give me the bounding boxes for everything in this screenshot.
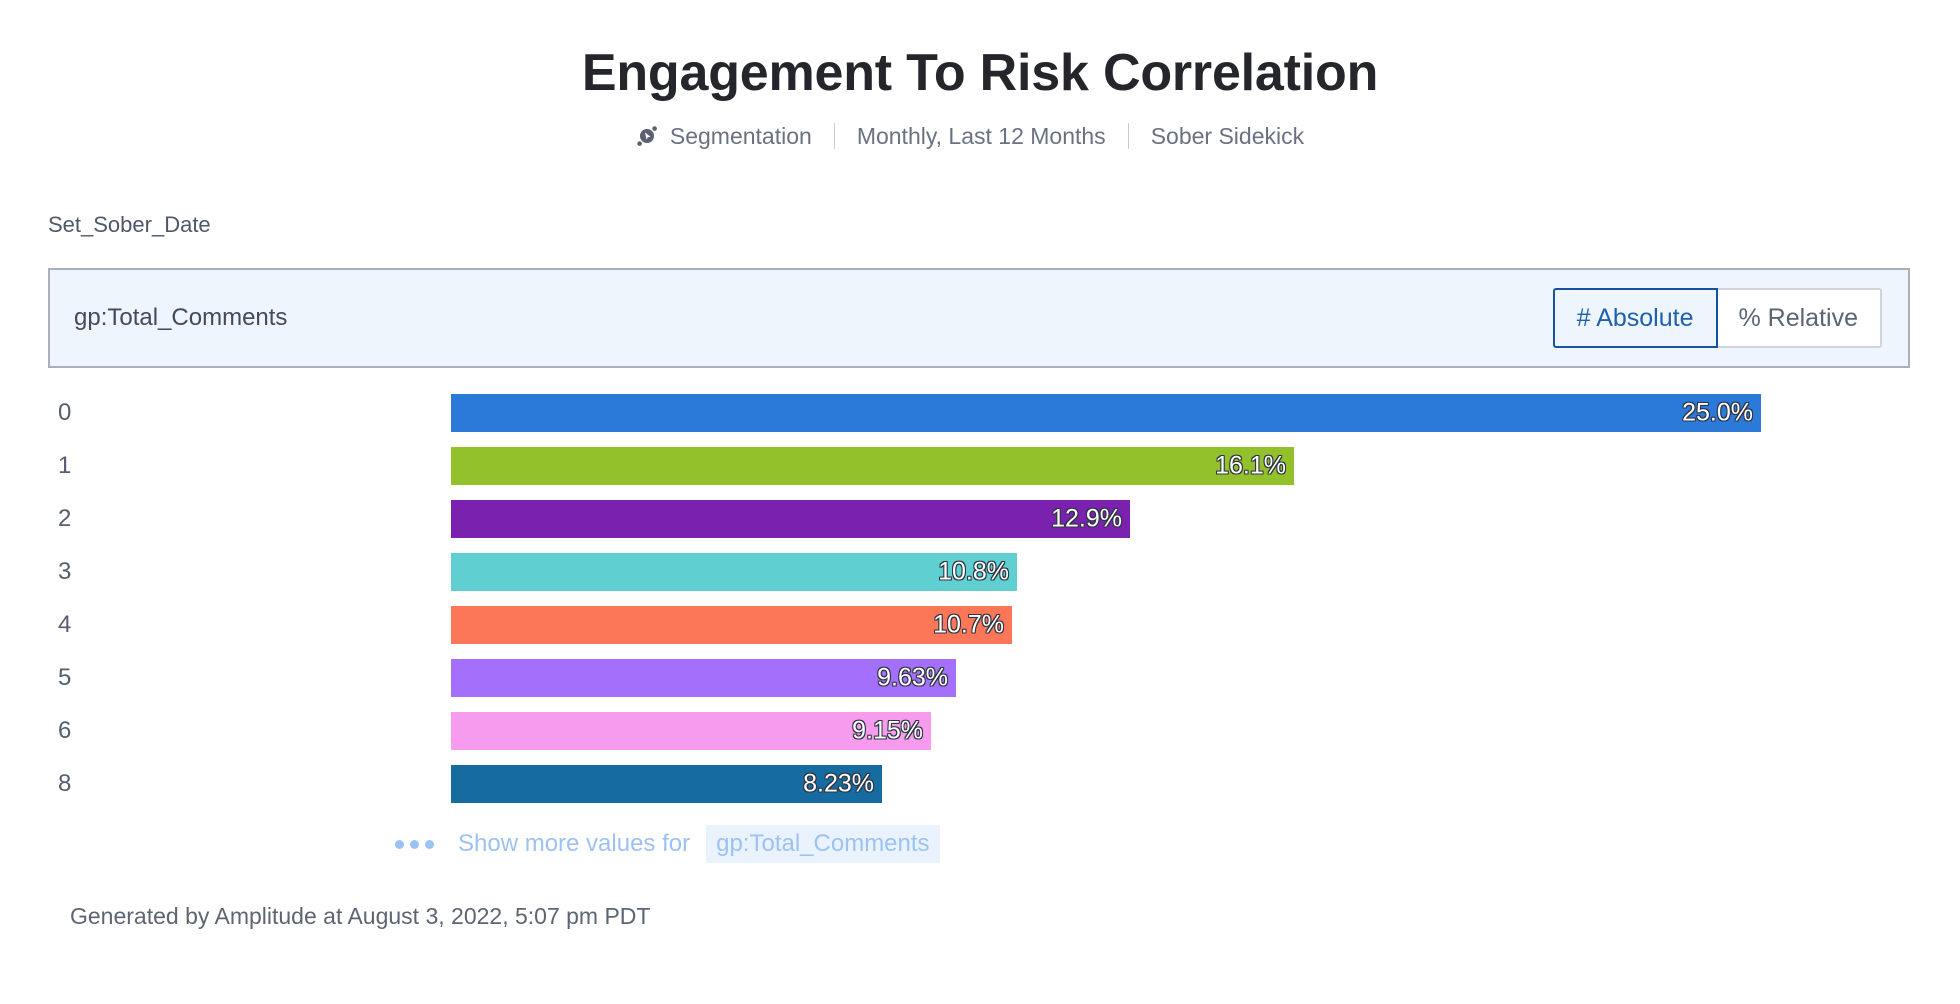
bar-fill[interactable]: 9.15% — [451, 712, 931, 750]
bar-row: 025.0% — [0, 392, 1960, 445]
absolute-toggle-button[interactable]: # Absolute — [1553, 288, 1718, 348]
value-mode-toggle-group: # Absolute % Relative — [1553, 288, 1882, 348]
bar-fill[interactable]: 10.8% — [451, 553, 1017, 591]
generated-by-note: Generated by Amplitude at August 3, 2022… — [70, 903, 650, 930]
bar-row: 310.8% — [0, 551, 1960, 604]
relative-toggle-button[interactable]: % Relative — [1717, 288, 1883, 348]
bar-fill[interactable]: 12.9% — [451, 500, 1130, 538]
bar-category-label: 6 — [58, 710, 71, 752]
bar-value-label: 10.7% — [933, 611, 1004, 640]
measure-panel: gp:Total_Comments # Absolute % Relative — [48, 268, 1910, 368]
bar-fill[interactable]: 9.63% — [451, 659, 956, 697]
show-more-label: Show more values for — [458, 830, 690, 858]
bar-value-label: 9.15% — [852, 717, 923, 746]
bar-row: 59.63% — [0, 657, 1960, 710]
bar-value-label: 25.0% — [1682, 399, 1753, 428]
bar-track: 8.23% — [451, 765, 882, 803]
ellipsis-icon — [395, 840, 434, 849]
bar-chart-plot: 025.0%116.1%212.9%310.8%410.7%59.63%69.1… — [0, 392, 1960, 816]
bar-value-label: 12.9% — [1051, 505, 1122, 534]
bar-category-label: 8 — [58, 763, 71, 805]
bar-track: 10.8% — [451, 553, 1017, 591]
bar-category-label: 3 — [58, 551, 71, 593]
page-title: Engagement To Risk Correlation — [0, 46, 1960, 101]
subtitle-chart-type-label: Segmentation — [670, 123, 812, 150]
bar-track: 25.0% — [451, 394, 1761, 432]
show-more-values-button[interactable]: Show more values for gp:Total_Comments — [395, 825, 940, 863]
group-by-label: Set_Sober_Date — [48, 212, 211, 238]
bar-track: 9.63% — [451, 659, 956, 697]
bar-value-label: 8.23% — [803, 770, 874, 799]
bar-fill[interactable]: 8.23% — [451, 765, 882, 803]
bar-category-label: 5 — [58, 657, 71, 699]
subtitle-project: Sober Sidekick — [1129, 123, 1326, 150]
bar-category-label: 1 — [58, 445, 71, 487]
bar-row: 212.9% — [0, 498, 1960, 551]
bar-track: 9.15% — [451, 712, 931, 750]
segmentation-icon — [634, 123, 660, 149]
bar-category-label: 2 — [58, 498, 71, 540]
bar-row: 410.7% — [0, 604, 1960, 657]
bar-row: 69.15% — [0, 710, 1960, 763]
chart-subtitle: Segmentation Monthly, Last 12 Months Sob… — [0, 123, 1960, 150]
bar-value-label: 10.8% — [938, 558, 1009, 587]
chart-header: Engagement To Risk Correlation Segmentat… — [0, 0, 1960, 150]
bar-track: 16.1% — [451, 447, 1294, 485]
bar-fill[interactable]: 16.1% — [451, 447, 1294, 485]
subtitle-chart-type: Segmentation — [634, 123, 834, 150]
bar-value-label: 16.1% — [1215, 452, 1286, 481]
show-more-measure-chip: gp:Total_Comments — [706, 825, 939, 863]
bar-track: 10.7% — [451, 606, 1012, 644]
bar-fill[interactable]: 25.0% — [451, 394, 1761, 432]
bar-category-label: 4 — [58, 604, 71, 646]
bar-fill[interactable]: 10.7% — [451, 606, 1012, 644]
bar-category-label: 0 — [58, 392, 71, 434]
bar-track: 12.9% — [451, 500, 1130, 538]
bar-row: 116.1% — [0, 445, 1960, 498]
measure-name-label: gp:Total_Comments — [74, 304, 287, 332]
bar-row: 88.23% — [0, 763, 1960, 816]
subtitle-interval: Monthly, Last 12 Months — [835, 123, 1128, 150]
bar-value-label: 9.63% — [877, 664, 948, 693]
